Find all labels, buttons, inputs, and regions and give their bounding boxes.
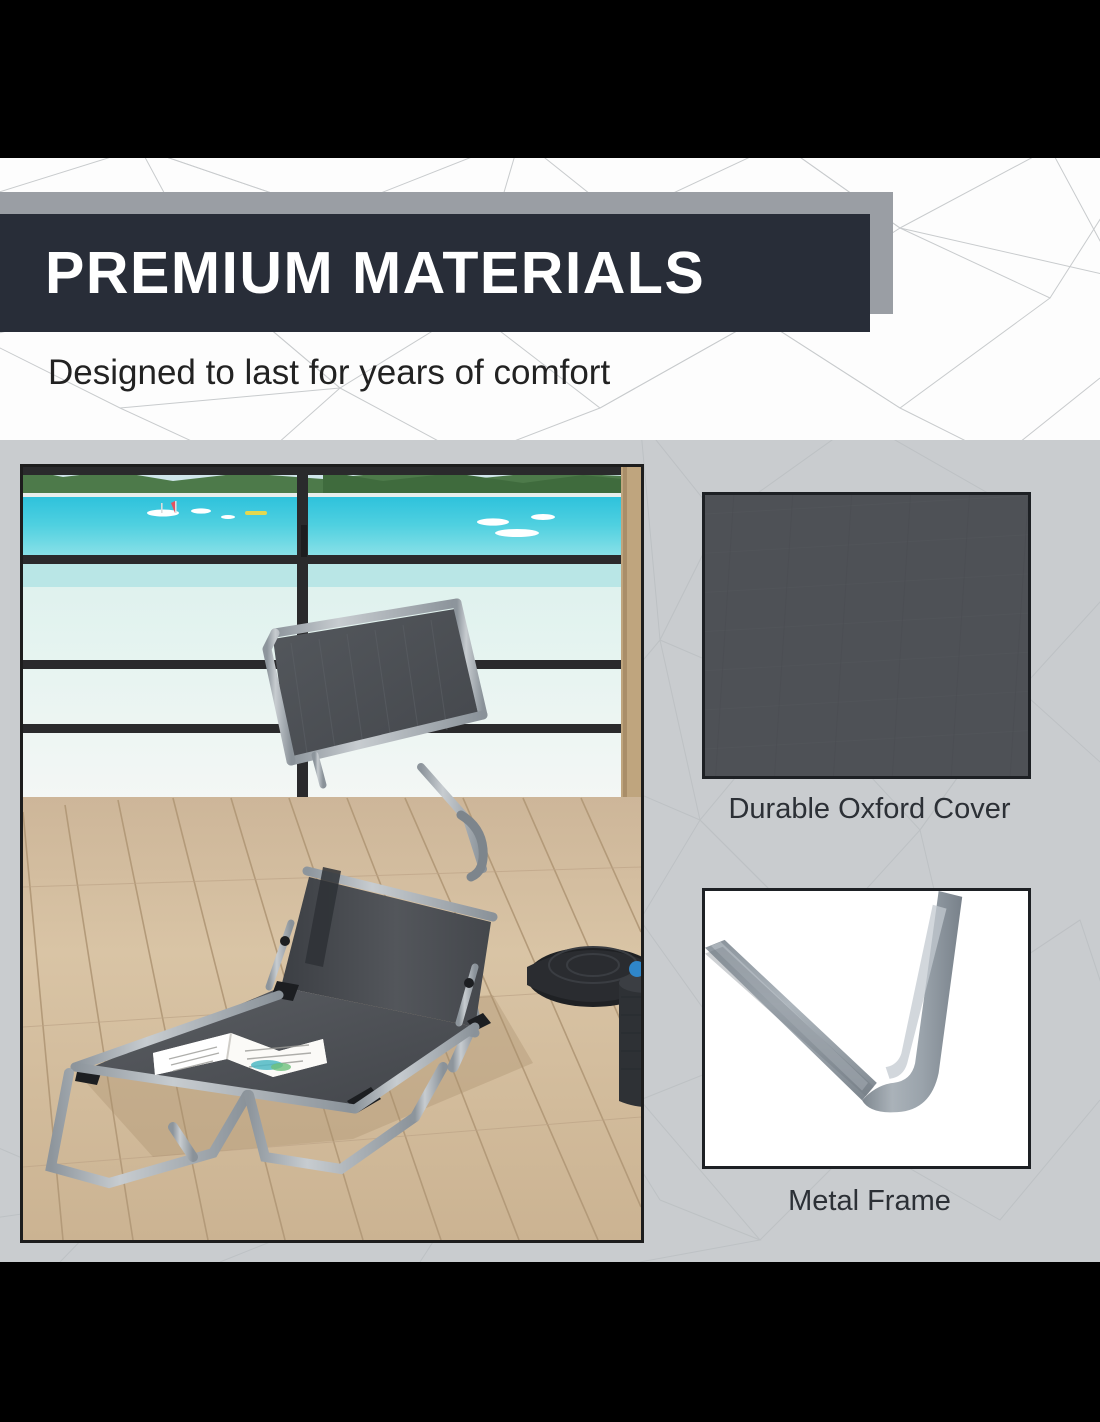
bottom-letterbox-bar (0, 1262, 1100, 1422)
product-infographic-page: PREMIUM MATERIALS Designed to last for y… (0, 0, 1100, 1422)
oxford-cover-label: Durable Oxford Cover (702, 793, 1037, 826)
top-letterbox-bar (0, 0, 1100, 158)
content-section: Durable Oxford Cover (0, 440, 1100, 1262)
metal-frame-swatch-image (702, 888, 1031, 1169)
main-product-photo (20, 464, 644, 1243)
header-section: PREMIUM MATERIALS Designed to last for y… (0, 158, 1100, 440)
page-title: PREMIUM MATERIALS (0, 244, 705, 303)
title-banner: PREMIUM MATERIALS (0, 214, 870, 332)
swatch-card-oxford-cover: Durable Oxford Cover (702, 492, 1037, 826)
swatch-card-metal-frame: Metal Frame (702, 888, 1037, 1218)
product-scene-illustration (23, 467, 641, 1240)
page-subtitle: Designed to last for years of comfort (48, 353, 610, 393)
oxford-cover-swatch-image (702, 492, 1031, 779)
metal-tube-closeup (705, 891, 1028, 1166)
metal-frame-label: Metal Frame (702, 1185, 1037, 1218)
oxford-fabric-texture (705, 495, 1028, 776)
